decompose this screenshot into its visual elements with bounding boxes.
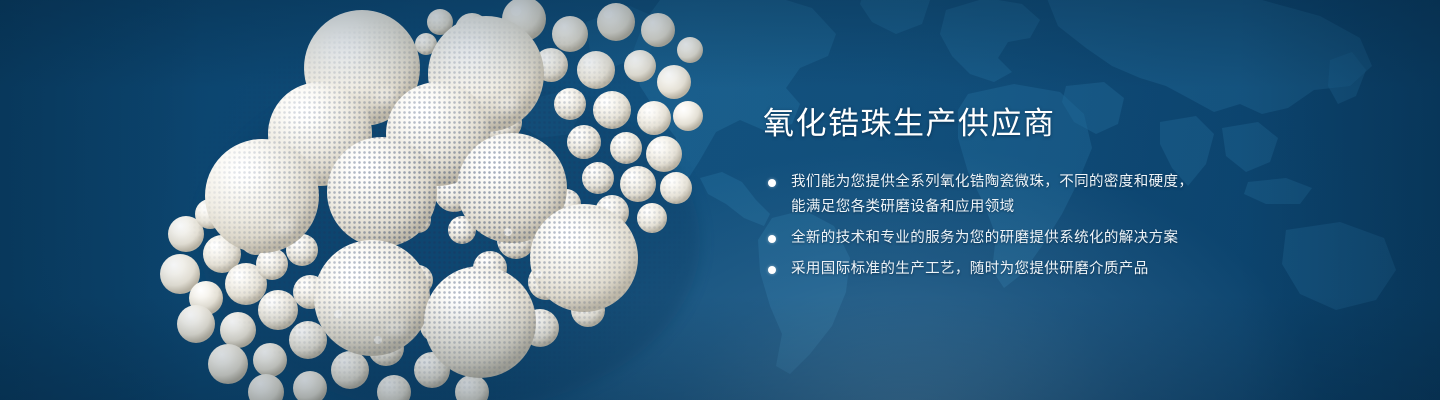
bullet-line: 全新的技术和专业的服务为您的研磨提供系统化的解决方案 bbox=[791, 226, 1323, 251]
bullet-dot-icon bbox=[768, 179, 776, 187]
feature-list: 我们能为您提供全系列氧化锆陶瓷微珠，不同的密度和硬度， 能满足您各类研磨设备和应… bbox=[763, 170, 1323, 282]
bullet-dot-icon bbox=[768, 235, 776, 243]
list-item: 采用国际标准的生产工艺，随时为您提供研磨介质产品 bbox=[763, 257, 1323, 282]
bullet-line: 能满足您各类研磨设备和应用领域 bbox=[791, 195, 1323, 220]
bullet-dot-icon bbox=[768, 266, 776, 274]
list-item: 全新的技术和专业的服务为您的研磨提供系统化的解决方案 bbox=[763, 226, 1323, 251]
hero-banner: 氧化锆珠生产供应商 我们能为您提供全系列氧化锆陶瓷微珠，不同的密度和硬度， 能满… bbox=[0, 0, 1440, 400]
list-item: 我们能为您提供全系列氧化锆陶瓷微珠，不同的密度和硬度， 能满足您各类研磨设备和应… bbox=[763, 170, 1323, 220]
banner-copy: 氧化锆珠生产供应商 我们能为您提供全系列氧化锆陶瓷微珠，不同的密度和硬度， 能满… bbox=[763, 104, 1323, 282]
banner-headline: 氧化锆珠生产供应商 bbox=[763, 104, 1323, 144]
bullet-line: 采用国际标准的生产工艺，随时为您提供研磨介质产品 bbox=[791, 257, 1323, 282]
bullet-line: 我们能为您提供全系列氧化锆陶瓷微珠，不同的密度和硬度， bbox=[791, 170, 1323, 195]
